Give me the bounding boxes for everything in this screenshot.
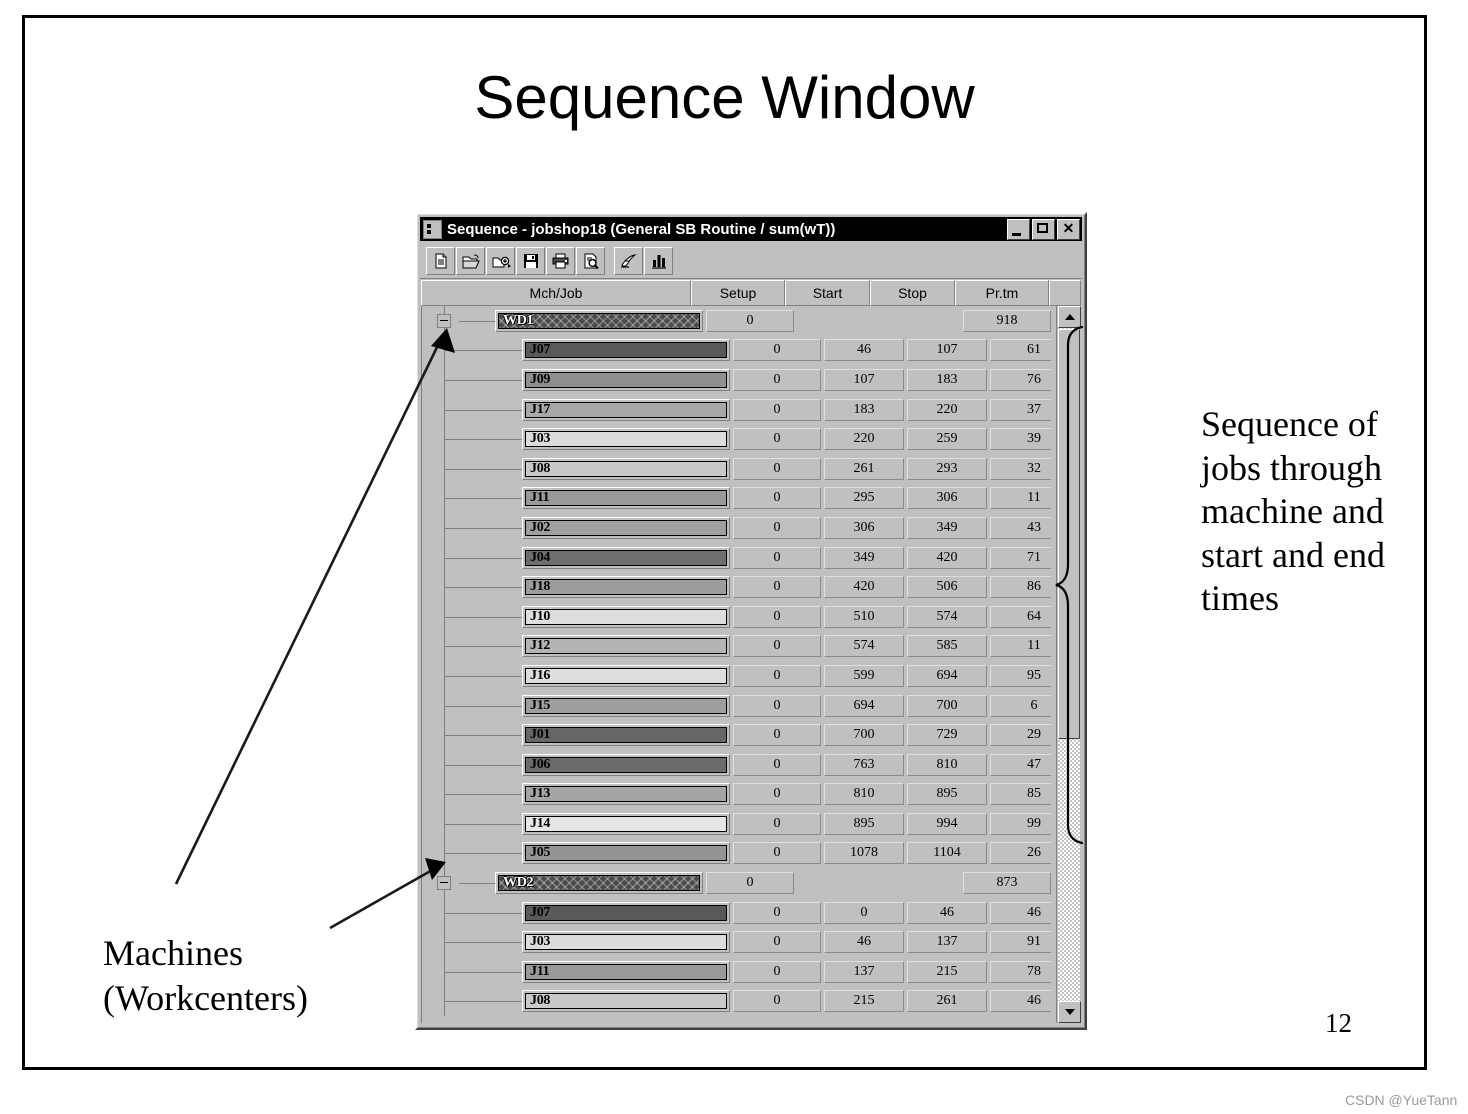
cell-setup[interactable]: 0 xyxy=(733,606,821,628)
label-bar-fill: J04 xyxy=(525,550,727,566)
bar-chart-icon[interactable] xyxy=(644,247,673,275)
tree-line-horizontal xyxy=(444,617,522,618)
label-bar-fill: J10 xyxy=(525,609,727,625)
label-bar-fill: J14 xyxy=(525,816,727,832)
cell-start[interactable]: 46 xyxy=(824,339,904,361)
cell-setup[interactable]: 0 xyxy=(733,428,821,450)
job-row[interactable]: J04034942071 xyxy=(422,543,1051,573)
column-header-prtm[interactable]: Pr.tm xyxy=(955,280,1049,306)
tree-line-horizontal xyxy=(444,735,522,736)
tree-line-horizontal xyxy=(459,321,495,322)
tree-gutter xyxy=(422,868,495,898)
job-row[interactable]: J18042050686 xyxy=(422,572,1051,602)
tree-gutter xyxy=(422,750,522,780)
cell-start[interactable]: 574 xyxy=(824,635,904,657)
cell-stop[interactable]: 506 xyxy=(907,576,987,598)
cell-prtm[interactable]: 873 xyxy=(963,872,1051,894)
cell-start[interactable]: 107 xyxy=(824,369,904,391)
cell-setup[interactable]: 0 xyxy=(706,872,794,894)
close-button[interactable]: ✕ xyxy=(1057,219,1080,240)
window-titlebar[interactable]: Sequence - jobshop18 (General SB Routine… xyxy=(420,217,1082,241)
job-name: J10 xyxy=(526,609,550,625)
label-bar-fill: J01 xyxy=(525,727,727,743)
cell-prtm[interactable]: 95 xyxy=(990,665,1051,687)
cell-stop[interactable]: 810 xyxy=(907,754,987,776)
cell-start xyxy=(797,310,877,332)
label-bar-fill: J13 xyxy=(525,786,727,802)
job-row[interactable]: J16059969495 xyxy=(422,661,1051,691)
cell-start[interactable]: 700 xyxy=(824,724,904,746)
slide: Sequence Window Sequence - jobshop18 (Ge… xyxy=(22,15,1427,1070)
tree-gutter xyxy=(422,927,522,957)
job-label-bar[interactable]: J18 xyxy=(522,576,730,598)
print-icon[interactable] xyxy=(546,247,575,275)
cell-start[interactable]: 215 xyxy=(824,990,904,1012)
cell-stop[interactable]: 183 xyxy=(907,369,987,391)
tree-gutter xyxy=(422,632,522,662)
tree-gutter xyxy=(422,365,522,395)
job-label-bar[interactable]: J09 xyxy=(522,369,730,391)
label-bar-fill: J17 xyxy=(525,402,727,418)
tree-line-horizontal xyxy=(444,824,522,825)
cell-stop[interactable]: 1104 xyxy=(907,842,987,864)
tree-gutter xyxy=(422,839,522,869)
job-label-bar[interactable]: J08 xyxy=(522,990,730,1012)
job-label-bar[interactable]: J04 xyxy=(522,547,730,569)
cell-prtm[interactable]: 76 xyxy=(990,369,1051,391)
page-number: 12 xyxy=(1325,1008,1352,1039)
scroll-down-button[interactable] xyxy=(1058,1001,1081,1023)
cell-stop[interactable]: 306 xyxy=(907,487,987,509)
cell-prtm[interactable]: 61 xyxy=(990,339,1051,361)
machine-name: WD2 xyxy=(499,875,533,891)
job-name: J03 xyxy=(526,934,550,950)
label-bar-fill: J08 xyxy=(525,993,727,1009)
tree-gutter xyxy=(422,720,522,750)
cell-start[interactable]: 420 xyxy=(824,576,904,598)
tree-gutter xyxy=(422,691,522,721)
job-row[interactable]: J17018322037 xyxy=(422,395,1051,425)
tree-line-horizontal xyxy=(444,469,522,470)
tree-gutter xyxy=(422,484,522,514)
scroll-up-button[interactable] xyxy=(1058,306,1081,328)
tree-line-horizontal xyxy=(444,794,522,795)
cell-start[interactable]: 46 xyxy=(824,931,904,953)
job-row[interactable]: J01070072929 xyxy=(422,720,1051,750)
window-inner-frame: Sequence - jobshop18 (General SB Routine… xyxy=(417,214,1085,1028)
tree-line-horizontal xyxy=(444,439,522,440)
cell-setup[interactable]: 0 xyxy=(733,724,821,746)
label-bar-fill: J16 xyxy=(525,668,727,684)
job-name: J11 xyxy=(526,964,549,980)
cell-start[interactable]: 599 xyxy=(824,665,904,687)
cell-setup[interactable]: 0 xyxy=(733,842,821,864)
job-label-bar[interactable]: J05 xyxy=(522,842,730,864)
cell-setup[interactable]: 0 xyxy=(733,813,821,835)
cell-stop[interactable]: 137 xyxy=(907,931,987,953)
cell-stop xyxy=(880,310,960,332)
machine-row[interactable]: WD10918 xyxy=(422,306,1051,336)
tree-line-horizontal xyxy=(444,942,522,943)
job-row[interactable]: J07004646 xyxy=(422,898,1051,928)
job-label-bar[interactable]: J14 xyxy=(522,813,730,835)
new-document-icon[interactable] xyxy=(426,247,455,275)
job-label-bar[interactable]: J15 xyxy=(522,695,730,717)
cell-start[interactable]: 261 xyxy=(824,458,904,480)
job-label-bar[interactable]: J03 xyxy=(522,931,730,953)
job-name: J08 xyxy=(526,461,550,477)
cell-stop[interactable]: 574 xyxy=(907,606,987,628)
machine-label-bar[interactable]: WD2 xyxy=(495,872,703,894)
cell-prtm[interactable]: 43 xyxy=(990,517,1051,539)
job-label-bar[interactable]: J16 xyxy=(522,665,730,687)
job-name: J17 xyxy=(526,402,550,418)
label-bar-fill: J12 xyxy=(525,638,727,654)
cell-prtm[interactable]: 29 xyxy=(990,724,1051,746)
label-bar-fill: J03 xyxy=(525,431,727,447)
cell-setup[interactable]: 0 xyxy=(733,547,821,569)
tree-gutter xyxy=(422,543,522,573)
column-header-stop[interactable]: Stop xyxy=(870,280,955,306)
tree-line-horizontal xyxy=(444,1001,522,1002)
cell-start[interactable]: 694 xyxy=(824,695,904,717)
cell-prtm[interactable]: 85 xyxy=(990,783,1051,805)
job-name: J07 xyxy=(526,905,550,921)
job-name: J16 xyxy=(526,668,550,684)
job-name: J01 xyxy=(526,727,550,743)
job-row[interactable]: J06076381047 xyxy=(422,750,1051,780)
column-header-mchjob[interactable]: Mch/Job xyxy=(421,280,691,306)
cell-setup[interactable]: 0 xyxy=(733,487,821,509)
job-row[interactable]: J03022025939 xyxy=(422,424,1051,454)
cell-stop[interactable]: 585 xyxy=(907,635,987,657)
cell-setup[interactable]: 0 xyxy=(733,783,821,805)
label-bar-fill: J09 xyxy=(525,372,727,388)
cell-start[interactable]: 295 xyxy=(824,487,904,509)
cell-start[interactable]: 349 xyxy=(824,547,904,569)
job-name: J02 xyxy=(526,520,550,536)
annotation-left-line2: (Workcenters) xyxy=(103,976,308,1021)
cell-setup[interactable]: 0 xyxy=(733,369,821,391)
machine-row[interactable]: WD20873 xyxy=(422,868,1051,898)
label-bar-fill: J11 xyxy=(525,490,727,506)
label-bar-fill: J18 xyxy=(525,579,727,595)
machine-label-bar[interactable]: WD1 xyxy=(495,310,703,332)
cell-setup[interactable]: 0 xyxy=(733,517,821,539)
annotation-right-text: Sequence of jobs through machine and sta… xyxy=(1201,403,1411,621)
cell-start[interactable]: 895 xyxy=(824,813,904,835)
triangle-up-icon xyxy=(1065,314,1075,320)
tree-line-horizontal xyxy=(444,913,522,914)
label-bar-fill: J07 xyxy=(525,905,727,921)
tree-gutter xyxy=(422,395,522,425)
cell-stop[interactable]: 349 xyxy=(907,517,987,539)
vertical-scrollbar[interactable] xyxy=(1056,306,1081,1023)
job-name: J05 xyxy=(526,845,550,861)
cell-prtm[interactable]: 37 xyxy=(990,399,1051,421)
cell-stop[interactable]: 293 xyxy=(907,458,987,480)
cell-stop[interactable]: 259 xyxy=(907,428,987,450)
cell-start[interactable]: 1078 xyxy=(824,842,904,864)
tree-gutter xyxy=(422,336,522,366)
cell-prtm[interactable]: 71 xyxy=(990,547,1051,569)
tree-gutter xyxy=(422,454,522,484)
cell-prtm[interactable]: 47 xyxy=(990,754,1051,776)
minimize-button[interactable] xyxy=(1007,219,1030,240)
tree-gutter xyxy=(422,780,522,810)
open-add-icon[interactable] xyxy=(486,247,515,275)
cell-setup[interactable]: 0 xyxy=(733,339,821,361)
label-bar-fill: J02 xyxy=(525,520,727,536)
tree-gutter xyxy=(422,424,522,454)
cell-stop[interactable]: 729 xyxy=(907,724,987,746)
job-row[interactable]: J13081089585 xyxy=(422,780,1051,810)
cell-start[interactable]: 183 xyxy=(824,399,904,421)
window-title: Sequence - jobshop18 (General SB Routine… xyxy=(447,221,1005,238)
cell-setup[interactable]: 0 xyxy=(733,931,821,953)
cell-setup[interactable]: 0 xyxy=(733,990,821,1012)
tree-line-horizontal xyxy=(444,587,522,588)
cell-prtm[interactable]: 86 xyxy=(990,576,1051,598)
collapse-toggle[interactable] xyxy=(437,314,451,328)
job-row[interactable]: J11013721578 xyxy=(422,957,1051,987)
job-row[interactable]: J0304613791 xyxy=(422,927,1051,957)
cell-start[interactable]: 510 xyxy=(824,606,904,628)
label-bar-fill: J15 xyxy=(525,698,727,714)
job-row[interactable]: J0501078110426 xyxy=(422,839,1051,869)
label-bar-fill: J08 xyxy=(525,461,727,477)
job-name: J15 xyxy=(526,698,550,714)
job-label-bar[interactable]: J12 xyxy=(522,635,730,657)
tree-line-horizontal xyxy=(444,350,522,351)
save-floppy-icon[interactable] xyxy=(516,247,545,275)
tree-line-horizontal xyxy=(444,646,522,647)
page-title: Sequence Window xyxy=(25,63,1424,132)
label-bar-fill: J03 xyxy=(525,934,727,950)
tree-line-horizontal xyxy=(444,853,522,854)
cell-stop[interactable]: 694 xyxy=(907,665,987,687)
label-bar-fill: WD1 xyxy=(498,313,700,329)
cell-stop[interactable]: 420 xyxy=(907,547,987,569)
job-name: J12 xyxy=(526,638,550,654)
tree-gutter xyxy=(422,602,522,632)
tree-gutter xyxy=(422,898,522,928)
job-row[interactable]: J10051057464 xyxy=(422,602,1051,632)
cell-stop[interactable]: 107 xyxy=(907,339,987,361)
cell-prtm[interactable]: 11 xyxy=(990,487,1051,509)
job-label-bar[interactable]: J02 xyxy=(522,517,730,539)
cell-stop[interactable]: 700 xyxy=(907,695,987,717)
toolbar xyxy=(420,243,1082,279)
job-label-bar[interactable]: J11 xyxy=(522,961,730,983)
job-label-bar[interactable]: J03 xyxy=(522,428,730,450)
app-icon xyxy=(423,220,442,239)
close-icon: ✕ xyxy=(1063,220,1075,236)
job-label-bar[interactable]: J07 xyxy=(522,339,730,361)
tree-gutter xyxy=(422,513,522,543)
job-row[interactable]: J08021526146 xyxy=(422,987,1051,1017)
maximize-button[interactable] xyxy=(1032,219,1055,240)
open-folder-icon[interactable] xyxy=(456,247,485,275)
grid-rows-container: WD10918J0704610761J09010718376J170183220… xyxy=(422,306,1051,1016)
cell-start xyxy=(797,872,877,894)
cell-prtm[interactable]: 46 xyxy=(990,990,1051,1012)
tree-line-horizontal xyxy=(444,380,522,381)
job-label-bar[interactable]: J07 xyxy=(522,902,730,924)
tree-line-horizontal xyxy=(444,765,522,766)
watermark: CSDN @YueTann xyxy=(1345,1092,1457,1108)
cell-prtm[interactable]: 26 xyxy=(990,842,1051,864)
sequence-grid: WD10918J0704610761J09010718376J170183220… xyxy=(421,306,1051,1023)
tree-line-horizontal xyxy=(444,558,522,559)
job-row[interactable]: J02030634943 xyxy=(422,513,1051,543)
annotation-left-line1: Machines xyxy=(103,931,308,976)
job-name: J04 xyxy=(526,550,550,566)
cell-start[interactable]: 220 xyxy=(824,428,904,450)
job-label-bar[interactable]: J10 xyxy=(522,606,730,628)
sequence-window: Sequence - jobshop18 (General SB Routine… xyxy=(415,212,1087,1030)
scrollbar-thumb[interactable] xyxy=(1058,329,1080,739)
cell-start[interactable]: 137 xyxy=(824,961,904,983)
job-name: J06 xyxy=(526,757,550,773)
job-label-bar[interactable]: J01 xyxy=(522,724,730,746)
cell-prtm[interactable]: 32 xyxy=(990,458,1051,480)
tree-line-horizontal xyxy=(444,972,522,973)
pen-tool-icon[interactable] xyxy=(614,247,643,275)
annotation-left-text: Machines (Workcenters) xyxy=(103,931,308,1020)
job-row[interactable]: J0704610761 xyxy=(422,336,1051,366)
cell-prtm[interactable]: 6 xyxy=(990,695,1051,717)
cell-start[interactable]: 306 xyxy=(824,517,904,539)
tree-gutter xyxy=(422,957,522,987)
cell-setup[interactable]: 0 xyxy=(733,695,821,717)
job-name: J08 xyxy=(526,993,550,1009)
cell-start[interactable]: 810 xyxy=(824,783,904,805)
cell-prtm[interactable]: 11 xyxy=(990,635,1051,657)
cell-prtm[interactable]: 46 xyxy=(990,902,1051,924)
cell-stop[interactable]: 46 xyxy=(907,902,987,924)
label-bar-fill: J06 xyxy=(525,757,727,773)
tree-gutter xyxy=(422,987,522,1017)
job-name: J07 xyxy=(526,342,550,358)
cell-prtm[interactable]: 39 xyxy=(990,428,1051,450)
job-name: J18 xyxy=(526,579,550,595)
tree-line-horizontal xyxy=(444,706,522,707)
tree-gutter xyxy=(422,306,495,336)
job-label-bar[interactable]: J13 xyxy=(522,783,730,805)
job-row[interactable]: J14089599499 xyxy=(422,809,1051,839)
label-bar-fill: J07 xyxy=(525,342,727,358)
cell-stop[interactable]: 220 xyxy=(907,399,987,421)
tree-line-horizontal xyxy=(444,498,522,499)
cell-prtm[interactable]: 99 xyxy=(990,813,1051,835)
cell-setup[interactable]: 0 xyxy=(733,961,821,983)
cell-setup[interactable]: 0 xyxy=(733,635,821,657)
job-label-bar[interactable]: J17 xyxy=(522,399,730,421)
collapse-toggle[interactable] xyxy=(437,876,451,890)
triangle-down-icon xyxy=(1065,1009,1075,1015)
machine-name: WD1 xyxy=(499,313,533,329)
cell-stop[interactable]: 215 xyxy=(907,961,987,983)
job-row[interactable]: J1506947006 xyxy=(422,691,1051,721)
cell-prtm[interactable]: 78 xyxy=(990,961,1051,983)
cell-prtm[interactable]: 91 xyxy=(990,931,1051,953)
job-name: J03 xyxy=(526,431,550,447)
job-name: J09 xyxy=(526,372,550,388)
job-label-bar[interactable]: J11 xyxy=(522,487,730,509)
cell-stop[interactable]: 994 xyxy=(907,813,987,835)
cell-setup[interactable]: 0 xyxy=(706,310,794,332)
tree-line-horizontal xyxy=(444,676,522,677)
column-header-start[interactable]: Start xyxy=(785,280,870,306)
job-row[interactable]: J09010718376 xyxy=(422,365,1051,395)
cell-setup[interactable]: 0 xyxy=(733,399,821,421)
cell-stop[interactable]: 895 xyxy=(907,783,987,805)
cell-setup[interactable]: 0 xyxy=(733,458,821,480)
cell-setup[interactable]: 0 xyxy=(733,576,821,598)
job-label-bar[interactable]: J06 xyxy=(522,754,730,776)
cell-prtm[interactable]: 64 xyxy=(990,606,1051,628)
cell-start[interactable]: 763 xyxy=(824,754,904,776)
cell-stop xyxy=(880,872,960,894)
column-header-setup[interactable]: Setup xyxy=(691,280,785,306)
label-bar-fill: J05 xyxy=(525,845,727,861)
job-label-bar[interactable]: J08 xyxy=(522,458,730,480)
tree-gutter xyxy=(422,661,522,691)
cell-setup[interactable]: 0 xyxy=(733,902,821,924)
grid-column-headers: Mch/Job Setup Start Stop Pr.tm xyxy=(421,280,1081,306)
job-name: J13 xyxy=(526,786,550,802)
job-row[interactable]: J08026129332 xyxy=(422,454,1051,484)
label-bar-fill: WD2 xyxy=(498,875,700,891)
cell-setup[interactable]: 0 xyxy=(733,754,821,776)
print-preview-icon[interactable] xyxy=(576,247,605,275)
job-name: J11 xyxy=(526,490,549,506)
cell-setup[interactable]: 0 xyxy=(733,665,821,687)
tree-line-horizontal xyxy=(444,528,522,529)
tree-line-horizontal xyxy=(444,410,522,411)
job-row[interactable]: J11029530611 xyxy=(422,484,1051,514)
job-row[interactable]: J12057458511 xyxy=(422,632,1051,662)
tree-gutter xyxy=(422,809,522,839)
cell-prtm[interactable]: 918 xyxy=(963,310,1051,332)
cell-start[interactable]: 0 xyxy=(824,902,904,924)
tree-line-horizontal xyxy=(459,883,495,884)
tree-gutter xyxy=(422,572,522,602)
label-bar-fill: J11 xyxy=(525,964,727,980)
job-name: J14 xyxy=(526,816,550,832)
column-header-spacer xyxy=(1049,280,1081,306)
cell-stop[interactable]: 261 xyxy=(907,990,987,1012)
